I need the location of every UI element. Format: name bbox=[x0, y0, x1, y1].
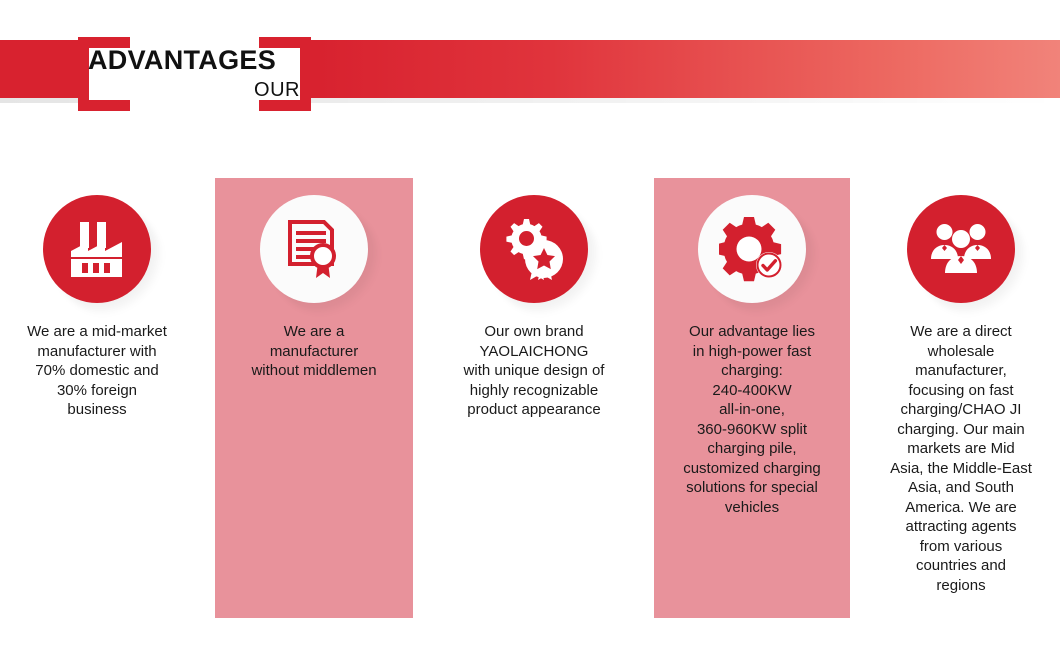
advantage-column-2: We are a manufacturer without middlemen bbox=[215, 150, 413, 649]
advantage-icon-2 bbox=[260, 195, 368, 303]
certificate-award-icon bbox=[260, 195, 368, 303]
advantage-caption-4: Our advantage lies in high-power fast ch… bbox=[654, 322, 850, 517]
advantage-caption-2: We are a manufacturer without middlemen bbox=[215, 322, 413, 381]
advantage-icon-3 bbox=[480, 195, 588, 303]
advantage-icon-5 bbox=[907, 195, 1015, 303]
advantages-columns: We are a mid-market manufacturer with 70… bbox=[0, 150, 1060, 649]
advantage-column-4: Our advantage lies in high-power fast ch… bbox=[654, 150, 850, 649]
gear-check-icon bbox=[698, 195, 806, 303]
advantage-icon-4 bbox=[698, 195, 806, 303]
advantage-column-3: Our own brand YAOLAICHONG with unique de… bbox=[437, 150, 631, 649]
advantage-caption-1: We are a mid-market manufacturer with 70… bbox=[13, 322, 181, 420]
advantage-column-1: We are a mid-market manufacturer with 70… bbox=[13, 150, 181, 649]
header-banner: ADVANTAGES OUR bbox=[0, 0, 1060, 150]
advantage-icon-1 bbox=[43, 195, 151, 303]
page-title: ADVANTAGES bbox=[88, 44, 303, 76]
factory-icon bbox=[43, 195, 151, 303]
advantage-caption-3: Our own brand YAOLAICHONG with unique de… bbox=[437, 322, 631, 420]
gear-star-badge-icon bbox=[480, 195, 588, 303]
advantage-column-5: We are a direct wholesale manufacturer, … bbox=[874, 150, 1048, 649]
advantage-caption-5: We are a direct wholesale manufacturer, … bbox=[874, 322, 1048, 595]
page-subtitle: OUR bbox=[88, 78, 300, 102]
team-people-icon bbox=[907, 195, 1015, 303]
